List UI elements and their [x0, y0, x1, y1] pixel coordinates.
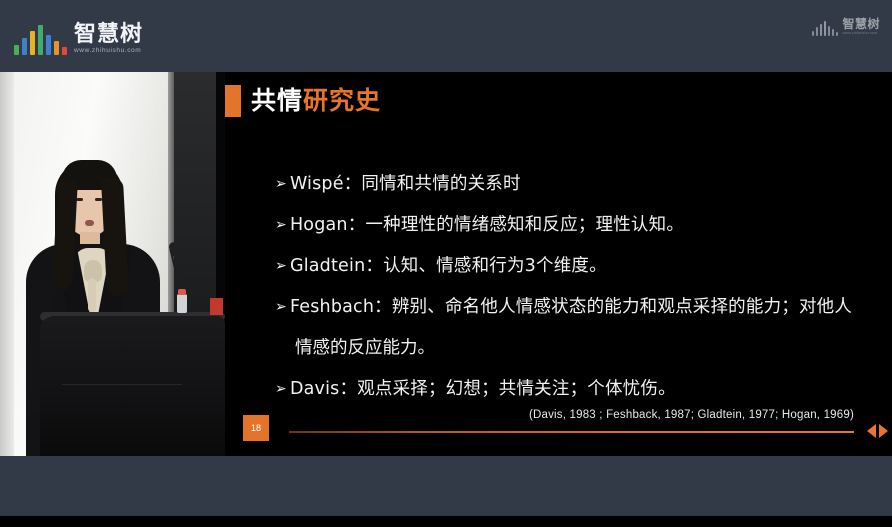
- bullet-arrow-icon: ➢: [275, 287, 287, 328]
- brand-text: 智慧树 www.zhihuishu.com: [74, 21, 143, 55]
- water-bottle-cap: [178, 289, 186, 295]
- slide-navigation: [867, 424, 888, 438]
- slide-title-part-1: 共情: [251, 86, 303, 115]
- slide-title: 共情研究史: [251, 84, 381, 117]
- footer-rule: [289, 431, 854, 433]
- watermark-bars-icon: [812, 21, 839, 36]
- bottom-black-strip: [0, 516, 892, 527]
- bullet-arrow-icon: ➢: [275, 246, 287, 287]
- presenter-video[interactable]: [0, 72, 225, 456]
- list-item: ➢ Feshbach：辨别、命名他人情感状态的能力和观点采择的能力；对他人: [275, 287, 883, 328]
- brand-name: 智慧树: [74, 23, 143, 46]
- bullet-arrow-icon: ➢: [275, 369, 287, 410]
- bullet-text-continuation: 情感的反应能力。: [275, 328, 883, 369]
- bullet-text: Gladtein：认知、情感和行为3个维度。: [290, 246, 883, 287]
- podium-seam: [62, 384, 182, 385]
- list-item: ➢ Wispé：同情和共情的关系时: [275, 164, 883, 205]
- slide-area: 共情研究史 ➢ Wispé：同情和共情的关系时 ➢ Hogan：一种理性的情绪感…: [225, 72, 892, 456]
- red-object: [210, 298, 223, 315]
- bullet-arrow-icon: ➢: [275, 164, 287, 205]
- watermark-logo: 智慧树 www.zhihuishu.com: [812, 18, 880, 36]
- top-bar: 智慧树 www.zhihuishu.com 智慧树 www.zhihuishu.…: [0, 0, 892, 72]
- watermark-url: www.zhihuishu.com: [842, 31, 880, 36]
- bullet-text: Feshbach：辨别、命名他人情感状态的能力和观点采择的能力；对他人: [290, 287, 883, 328]
- bullet-text: Hogan：一种理性的情绪感知和反应；理性认知。: [290, 205, 883, 246]
- video-wall-left: [0, 72, 14, 456]
- bullet-text: Wispé：同情和共情的关系时: [290, 164, 883, 205]
- list-item: ➢ Davis：观点采择；幻想；共情关注；个体忧伤。: [275, 369, 883, 410]
- brand-logo[interactable]: 智慧树 www.zhihuishu.com: [14, 19, 143, 55]
- presenter-mouth: [85, 220, 94, 226]
- next-slide-icon[interactable]: [879, 424, 888, 438]
- presenter-eye-right: [95, 198, 102, 201]
- list-item: ➢ Hogan：一种理性的情绪感知和反应；理性认知。: [275, 205, 883, 246]
- citation-text: (Davis, 1983 ; Feshback, 1987; Gladtein,…: [529, 409, 854, 421]
- page-number-badge: 18: [243, 415, 269, 441]
- bottom-bar: [0, 456, 892, 516]
- prev-slide-icon[interactable]: [867, 424, 876, 438]
- bullet-arrow-icon: ➢: [275, 205, 287, 246]
- presenter-bow-tail: [88, 278, 96, 312]
- bullet-list: ➢ Wispé：同情和共情的关系时 ➢ Hogan：一种理性的情绪感知和反应；理…: [275, 164, 883, 410]
- watermark-text: 智慧树 www.zhihuishu.com: [842, 18, 880, 36]
- brand-url: www.zhihuishu.com: [74, 46, 143, 55]
- presenter-eye-left: [76, 198, 83, 201]
- logo-bars-icon: [14, 25, 67, 55]
- slide-title-part-2: 研究史: [303, 86, 381, 115]
- water-bottle: [177, 294, 187, 313]
- watermark-name: 智慧树: [842, 18, 880, 31]
- podium: [40, 316, 225, 456]
- list-item: ➢ Gladtein：认知、情感和行为3个维度。: [275, 246, 883, 287]
- stage-area: 共情研究史 ➢ Wispé：同情和共情的关系时 ➢ Hogan：一种理性的情绪感…: [0, 72, 892, 456]
- bullet-text: Davis：观点采择；幻想；共情关注；个体忧伤。: [290, 369, 883, 410]
- title-accent-block: [225, 85, 241, 117]
